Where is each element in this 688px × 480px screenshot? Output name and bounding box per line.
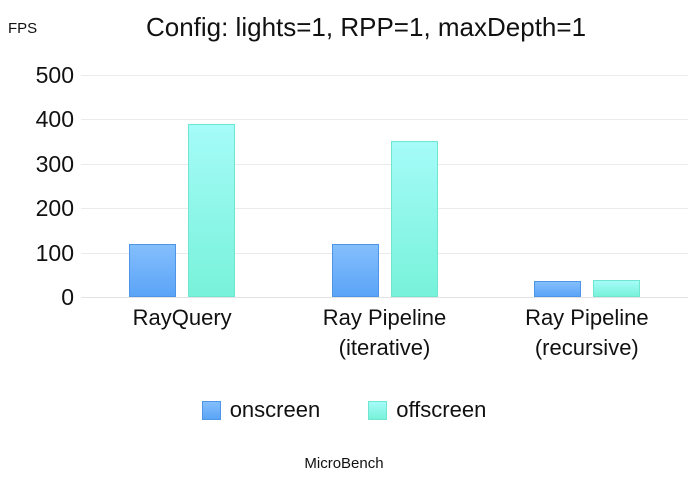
category-label-line1: Ray Pipeline xyxy=(525,305,649,330)
legend-swatch-icon xyxy=(368,401,387,420)
legend-swatch-icon xyxy=(202,401,221,420)
gridline xyxy=(81,75,688,76)
plot-area xyxy=(81,75,688,297)
bar-offscreen-2[interactable] xyxy=(593,280,640,297)
chart-legend: onscreenoffscreen xyxy=(0,398,688,422)
gridline xyxy=(81,119,688,120)
x-axis-category-label: Ray Pipeline(iterative) xyxy=(283,303,485,363)
gridline xyxy=(81,164,688,165)
legend-label: offscreen xyxy=(396,398,486,422)
y-axis-tick-label: 0 xyxy=(8,286,74,309)
x-axis-title: MicroBench xyxy=(0,455,688,473)
bar-onscreen-1[interactable] xyxy=(332,244,379,297)
bar-onscreen-2[interactable] xyxy=(534,281,581,297)
bar-offscreen-0[interactable] xyxy=(188,124,235,297)
y-axis-tick-label: 200 xyxy=(8,197,74,220)
bar-chart: FPS Config: lights=1, RPP=1, maxDepth=1 … xyxy=(0,0,688,480)
category-label-line2: (recursive) xyxy=(486,333,688,363)
axis-baseline xyxy=(81,297,688,298)
x-axis-category-label: Ray Pipeline(recursive) xyxy=(486,303,688,363)
x-axis-category-labels: RayQueryRay Pipeline(iterative)Ray Pipel… xyxy=(81,303,688,375)
y-axis-tick-labels: 5004003002001000 xyxy=(0,75,74,297)
legend-label: onscreen xyxy=(230,398,321,422)
y-axis-unit-caption: FPS xyxy=(8,20,37,38)
category-label-line2: (iterative) xyxy=(283,333,485,363)
legend-item-offscreen[interactable]: offscreen xyxy=(368,398,486,422)
chart-title: Config: lights=1, RPP=1, maxDepth=1 xyxy=(86,10,646,44)
legend-item-onscreen[interactable]: onscreen xyxy=(202,398,321,422)
y-axis-tick-label: 100 xyxy=(8,242,74,265)
bar-onscreen-0[interactable] xyxy=(129,244,176,297)
x-axis-category-label: RayQuery xyxy=(81,303,283,333)
y-axis-tick-label: 400 xyxy=(8,108,74,131)
bar-offscreen-1[interactable] xyxy=(391,141,438,297)
category-label-line1: RayQuery xyxy=(133,305,232,330)
y-axis-tick-label: 500 xyxy=(8,64,74,87)
y-axis-tick-label: 300 xyxy=(8,153,74,176)
gridline xyxy=(81,208,688,209)
category-label-line1: Ray Pipeline xyxy=(323,305,447,330)
